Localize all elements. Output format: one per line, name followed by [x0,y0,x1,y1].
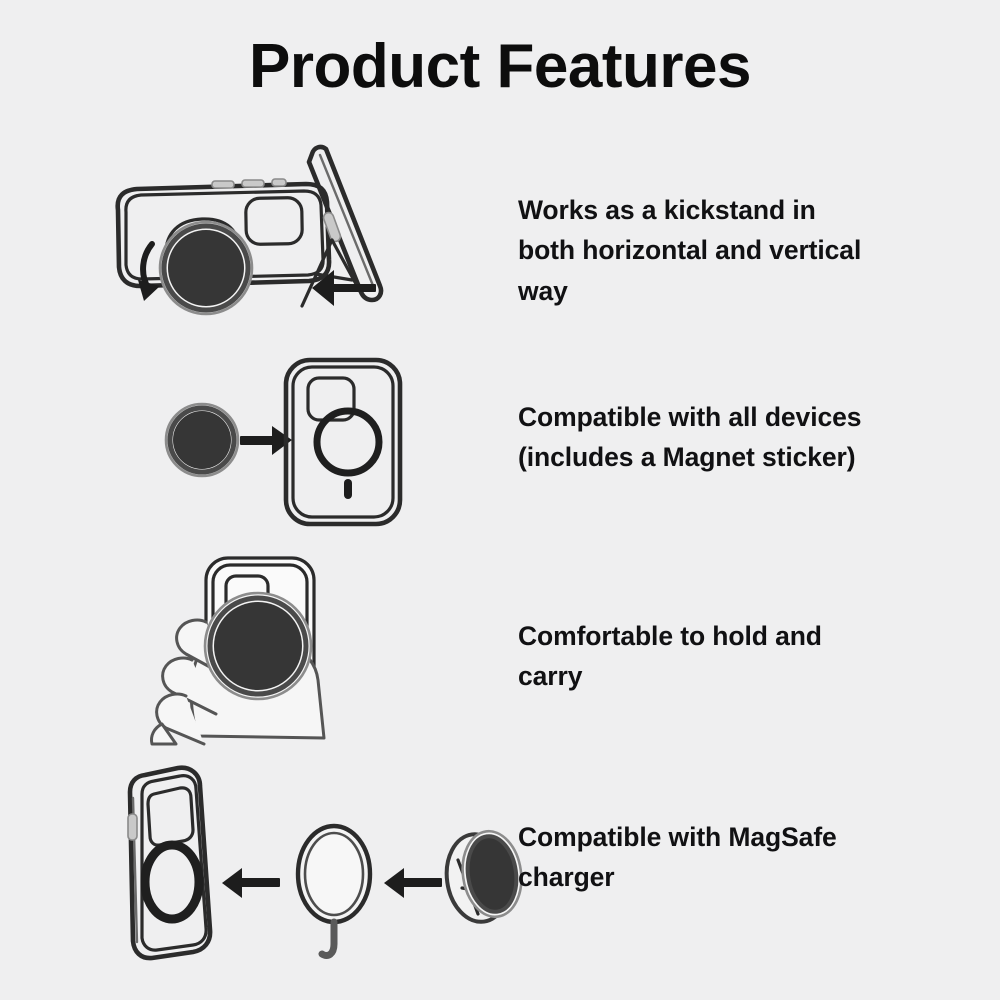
feature-text-magsafe-charger: Compatible with MagSafe charger [518,817,878,898]
magsafe-charger-puck-icon [298,826,370,922]
camera-module-icon [246,198,303,245]
feature-text-comfortable-to-hold: Comfortable to hold and carry [518,616,878,697]
magnet-sticker-illustration-svg [80,352,500,532]
charger-cable-icon [322,922,334,956]
grip-ring-angled-icon [441,827,527,926]
flash-bar-icon [344,479,352,499]
rotation-curved-arrow-icon [138,244,160,301]
grip-ring-dark-disc-icon [160,222,252,314]
feature-row-compatible-all-devices: Compatible with all devices (includes a … [0,352,1000,532]
left-arrow-icon [222,868,280,898]
feature-text-compatible-all-devices: Compatible with all devices (includes a … [518,397,878,478]
hand-holding-illustration-svg [80,548,500,748]
phone-portrait-back-icon [286,360,400,524]
kickstand-illustration-svg [80,128,500,338]
magsafe-charger-illustration-svg [80,762,500,962]
magnet-sticker-dark-disc-icon [166,404,238,476]
left-arrow-icon [384,868,442,898]
feature-row-kickstand: Works as a kickstand in both horizontal … [0,128,1000,338]
camera-module-icon [148,788,193,845]
feature-row-comfortable-to-hold: Comfortable to hold and carry [0,548,1000,748]
product-features-infographic: Product Features [0,0,1000,1000]
feature-row-magsafe-charger: Compatible with MagSafe charger [0,762,1000,962]
grip-ring-dark-disc-icon [205,593,311,699]
illustration-magsafe-charger [80,762,500,962]
illustration-hand-holding-phone [80,548,500,748]
illustration-magnet-sticker [80,352,500,532]
side-buttons-icon [212,179,286,188]
illustration-kickstand [80,128,500,338]
feature-text-kickstand: Works as a kickstand in both horizontal … [518,190,878,311]
page-title: Product Features [0,34,1000,99]
side-button-icon [128,814,137,840]
magsafe-ring-icon [145,845,199,919]
